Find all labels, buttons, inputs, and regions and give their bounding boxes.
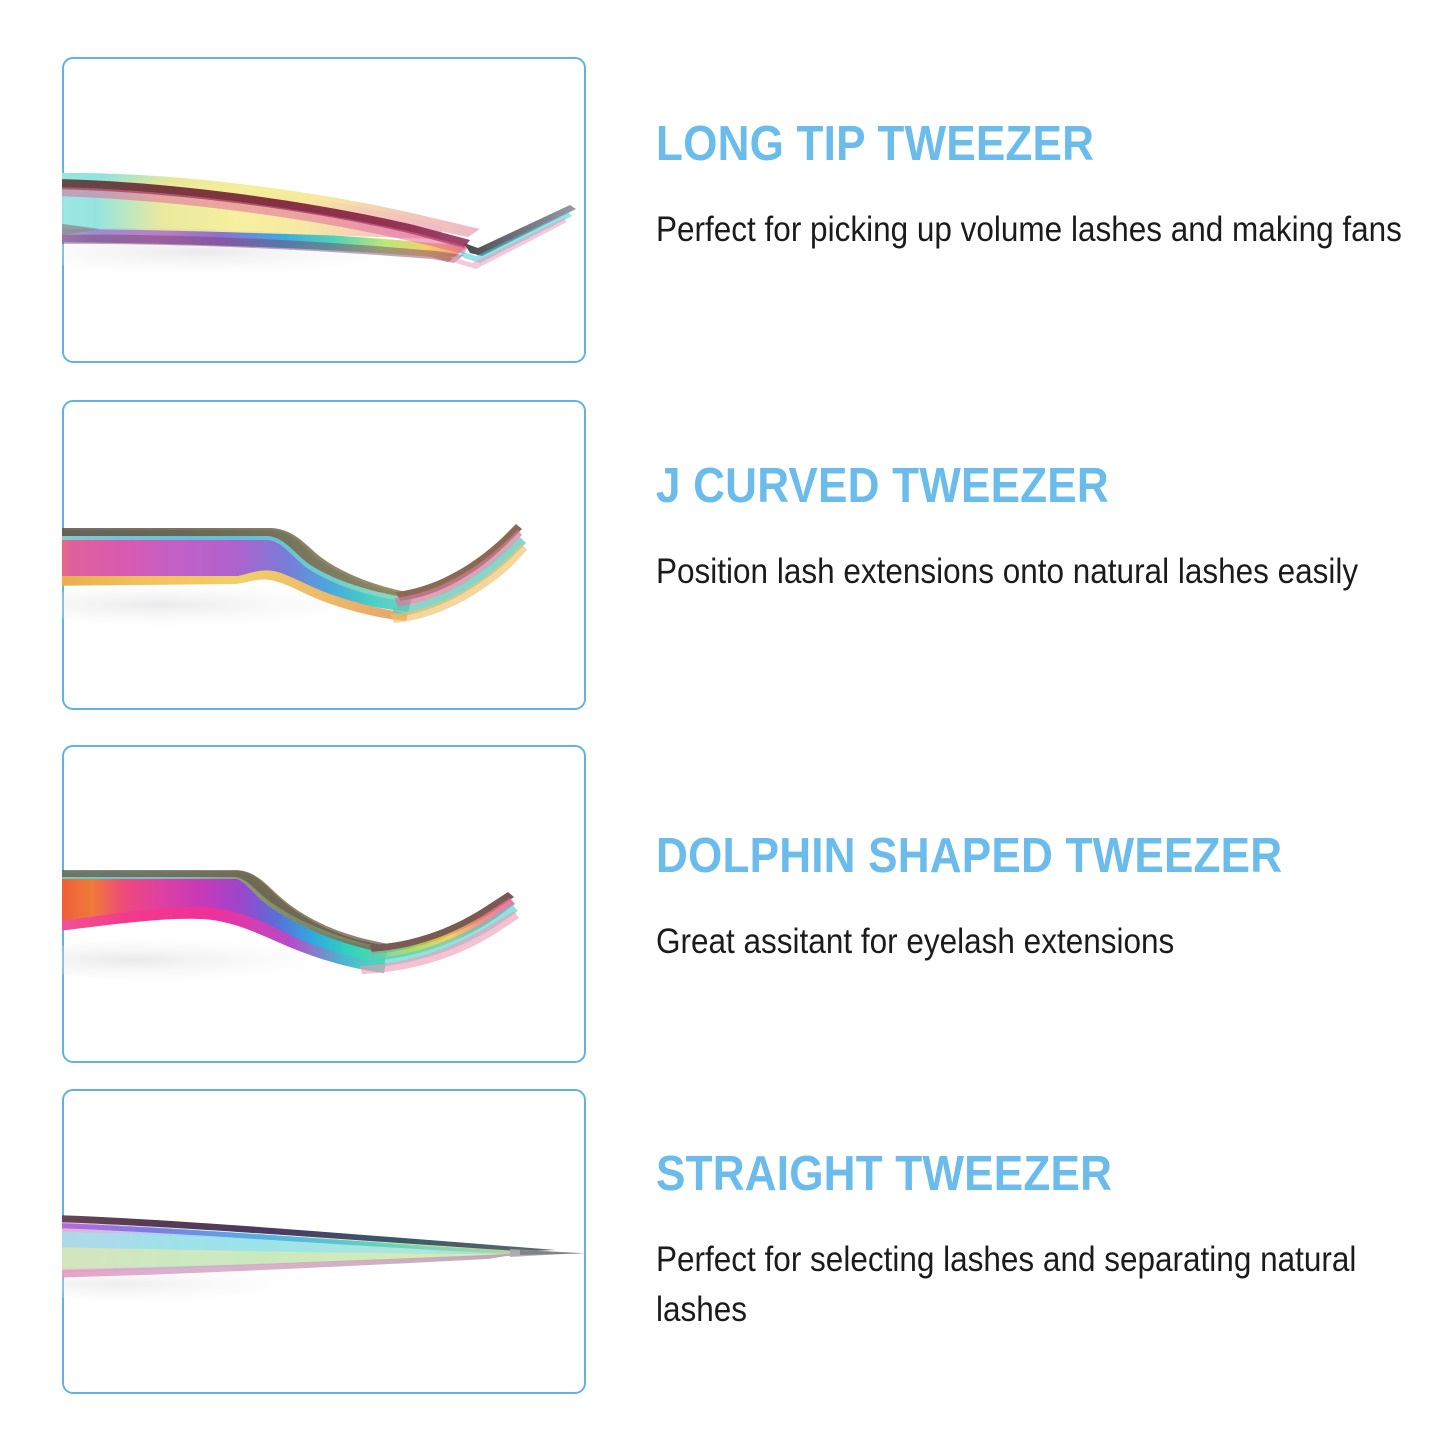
straight-tweezer-photo (62, 1089, 586, 1394)
product-heading-long-tip: LONG TIP TWEEZER (656, 120, 1340, 169)
image-clip-dolphin (62, 745, 586, 1063)
product-text-long-tip: LONG TIP TWEEZER Perfect for picking up … (656, 120, 1416, 255)
product-heading-dolphin: DOLPHIN SHAPED TWEEZER (656, 832, 1340, 881)
product-description-dolphin: Great assitant for eyelash extensions (656, 917, 1415, 967)
product-image-card-dolphin (62, 745, 586, 1063)
product-heading-straight: STRAIGHT TWEEZER (656, 1150, 1340, 1199)
product-description-straight: Perfect for selecting lashes and separat… (656, 1235, 1415, 1334)
product-text-j-curved: J CURVED TWEEZER Position lash extension… (656, 462, 1416, 597)
product-description-j-curved: Position lash extensions onto natural la… (656, 547, 1415, 597)
long-tip-tweezer-photo (62, 57, 586, 363)
image-clip-long-tip (62, 57, 586, 363)
product-heading-j-curved: J CURVED TWEEZER (656, 462, 1340, 511)
image-clip-straight (62, 1089, 586, 1394)
product-text-straight: STRAIGHT TWEEZER Perfect for selecting l… (656, 1150, 1416, 1334)
product-image-card-long-tip (62, 57, 586, 363)
dolphin-shaped-tweezer-photo (62, 745, 586, 1063)
infographic-sheet: LONG TIP TWEEZER Perfect for picking up … (0, 0, 1445, 1445)
product-image-card-j-curved (62, 400, 586, 710)
product-image-card-straight (62, 1089, 586, 1394)
j-curved-tweezer-photo (62, 400, 586, 710)
image-clip-j-curved (62, 400, 586, 710)
product-text-dolphin: DOLPHIN SHAPED TWEEZER Great assitant fo… (656, 832, 1416, 967)
product-description-long-tip: Perfect for picking up volume lashes and… (656, 205, 1415, 255)
